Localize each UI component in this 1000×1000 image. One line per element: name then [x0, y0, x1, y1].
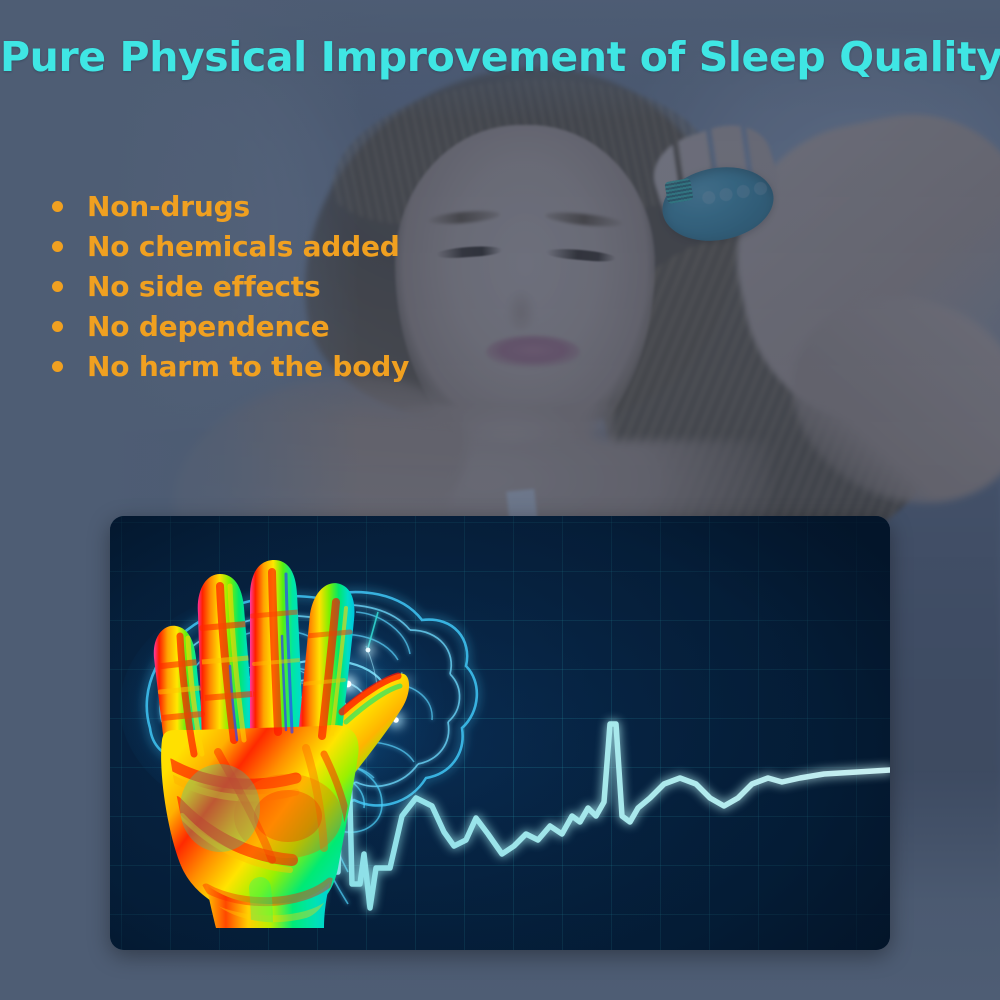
list-item: No side effects [52, 266, 522, 306]
benefit-label: No chemicals added [87, 230, 400, 263]
benefit-label: No side effects [87, 270, 320, 303]
bullet-dot-icon [52, 281, 63, 292]
poster-canvas: Pure Physical Improvement of Sleep Quali… [0, 0, 1000, 1000]
list-item: No chemicals added [52, 226, 522, 266]
list-item: No harm to the body [52, 346, 522, 386]
tech-illustration-panel [110, 516, 890, 950]
benefit-label: Non-drugs [87, 190, 250, 223]
list-item: No dependence [52, 306, 522, 346]
list-item: Non-drugs [52, 186, 522, 226]
bullet-dot-icon [52, 201, 63, 212]
page-title: Pure Physical Improvement of Sleep Quali… [0, 33, 1000, 81]
bullet-dot-icon [52, 241, 63, 252]
bullet-dot-icon [52, 321, 63, 332]
benefit-label: No harm to the body [87, 350, 409, 383]
thermal-hand-image [110, 516, 410, 928]
benefit-label: No dependence [87, 310, 329, 343]
bullet-dot-icon [52, 361, 63, 372]
benefits-list: Non-drugs No chemicals added No side eff… [52, 186, 522, 386]
